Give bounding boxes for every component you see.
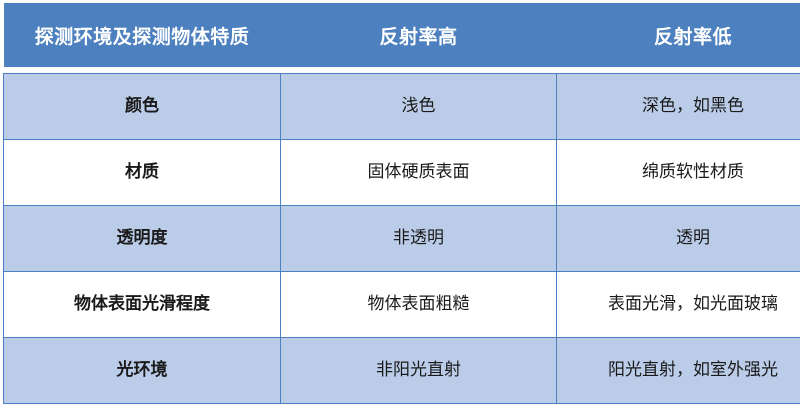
reflectivity-table-container: 探测环境及探测物体特质 反射率高 反射率低 颜色 浅色 深色，如黑色 材质 固体… [3, 3, 793, 404]
cell-high-reflectivity: 非阳光直射 [281, 338, 557, 404]
cell-low-reflectivity: 阳光直射，如室外强光 [557, 338, 800, 404]
cell-feature: 材质 [4, 140, 281, 206]
cell-low-reflectivity: 深色，如黑色 [557, 74, 800, 140]
cell-feature: 物体表面光滑程度 [4, 272, 281, 338]
column-header-high-reflectivity: 反射率高 [281, 3, 557, 67]
cell-high-reflectivity: 非透明 [281, 206, 557, 272]
table-header: 探测环境及探测物体特质 反射率高 反射率低 [4, 3, 800, 74]
column-header-low-reflectivity: 反射率低 [557, 3, 800, 67]
table-row: 透明度 非透明 透明 [4, 206, 800, 272]
table-header-row: 探测环境及探测物体特质 反射率高 反射率低 [4, 3, 800, 67]
cell-feature: 颜色 [4, 74, 281, 140]
cell-high-reflectivity: 物体表面粗糙 [281, 272, 557, 338]
cell-high-reflectivity: 浅色 [281, 74, 557, 140]
table-row: 材质 固体硬质表面 绵质软性材质 [4, 140, 800, 206]
cell-feature: 透明度 [4, 206, 281, 272]
reflectivity-characteristics-table: 探测环境及探测物体特质 反射率高 反射率低 颜色 浅色 深色，如黑色 材质 固体… [3, 3, 800, 404]
table-row: 光环境 非阳光直射 阳光直射，如室外强光 [4, 338, 800, 404]
cell-low-reflectivity: 绵质软性材质 [557, 140, 800, 206]
column-header-feature: 探测环境及探测物体特质 [4, 3, 281, 67]
cell-high-reflectivity: 固体硬质表面 [281, 140, 557, 206]
table-body: 颜色 浅色 深色，如黑色 材质 固体硬质表面 绵质软性材质 透明度 非透明 透明… [4, 74, 800, 404]
table-row: 物体表面光滑程度 物体表面粗糙 表面光滑，如光面玻璃 [4, 272, 800, 338]
cell-low-reflectivity: 透明 [557, 206, 800, 272]
table-row: 颜色 浅色 深色，如黑色 [4, 74, 800, 140]
cell-feature: 光环境 [4, 338, 281, 404]
cell-low-reflectivity: 表面光滑，如光面玻璃 [557, 272, 800, 338]
